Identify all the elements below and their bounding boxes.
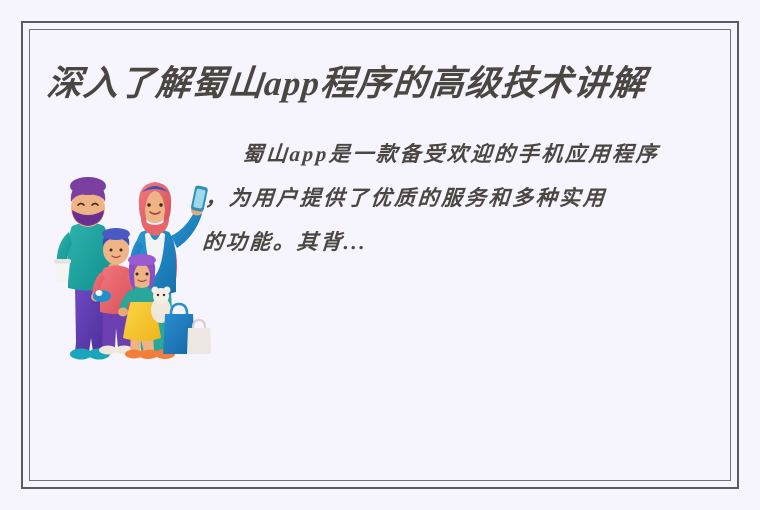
article-card: 深入了解蜀山app程序的高级技术讲解 [0,0,760,510]
article-body: 蜀山app是一款备受欢迎的手机应用程序 ，为用户提供了优质的服务和多种实用 的功… [201,132,718,264]
article-title: 深入了解蜀山app程序的高级技术讲解 [45,58,730,110]
article-body-line-text: 蜀山app是一款备受欢迎的手机应用程序 [242,142,661,166]
article-body-line: 的功能。其背... [201,220,712,264]
article-body-line: 蜀山app是一款备受欢迎的手机应用程序 [207,132,718,176]
card-content: 深入了解蜀山app程序的高级技术讲解 [30,30,730,480]
article-body-line: ，为用户提供了优质的服务和多种实用 [204,176,715,220]
family-3d-illustration [45,162,220,372]
